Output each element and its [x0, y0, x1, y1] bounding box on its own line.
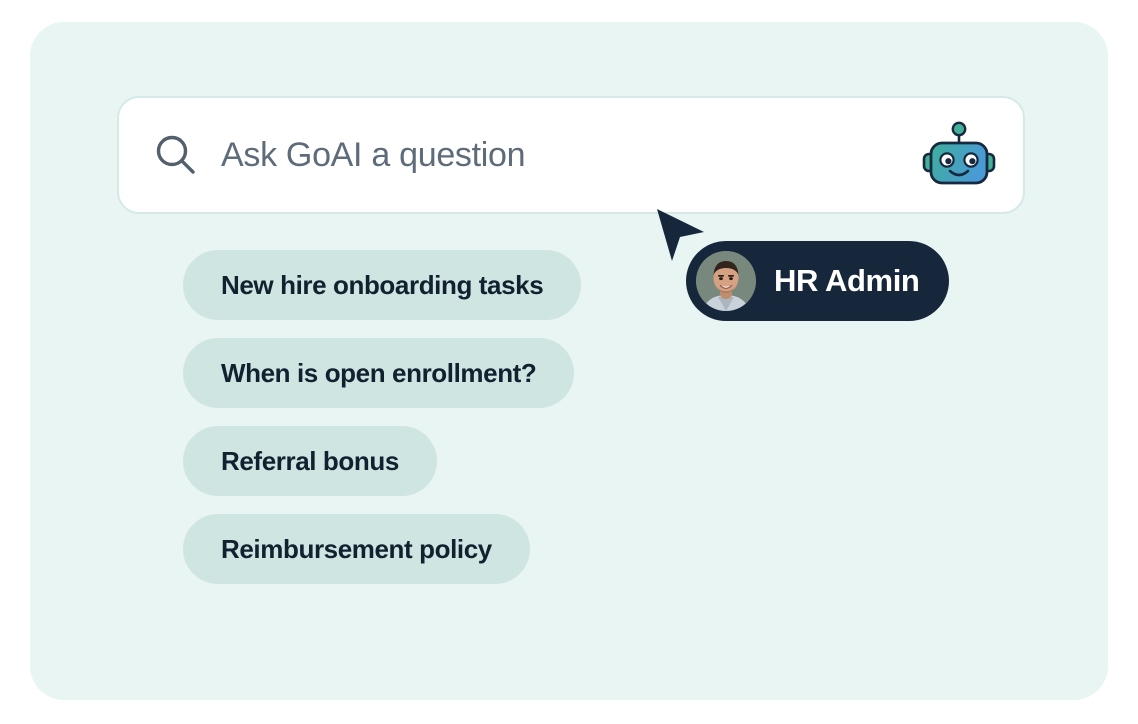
- robot-assistant-button[interactable]: [921, 121, 997, 189]
- suggestion-chip[interactable]: When is open enrollment?: [183, 338, 574, 408]
- search-bar[interactable]: [117, 96, 1025, 214]
- robot-icon: [921, 121, 997, 189]
- avatar: [696, 251, 756, 311]
- suggestion-chip[interactable]: Reimbursement policy: [183, 514, 530, 584]
- suggestion-chip[interactable]: New hire onboarding tasks: [183, 250, 581, 320]
- hr-admin-label: HR Admin: [774, 263, 919, 299]
- search-input[interactable]: [221, 131, 921, 179]
- hr-admin-badge[interactable]: HR Admin: [686, 241, 949, 321]
- suggestion-chip[interactable]: Referral bonus: [183, 426, 437, 496]
- suggestion-chip-list: New hire onboarding tasks When is open e…: [183, 250, 581, 584]
- search-icon: [153, 132, 199, 178]
- screenshot-root: New hire onboarding tasks When is open e…: [0, 0, 1138, 724]
